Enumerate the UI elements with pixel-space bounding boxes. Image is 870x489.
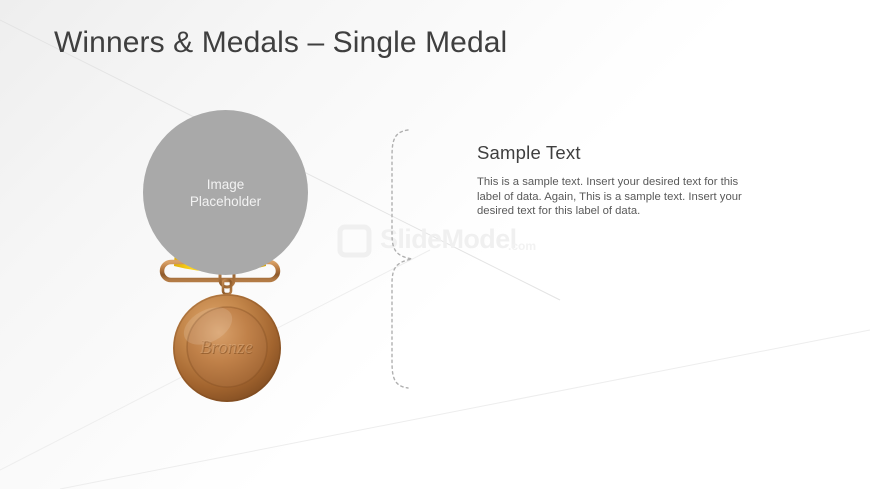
image-placeholder-line1: Image	[207, 176, 245, 193]
dashed-brace-connector	[382, 126, 452, 396]
sample-text-heading: Sample Text	[477, 142, 762, 164]
page-title: Winners & Medals – Single Medal	[54, 26, 507, 60]
medal-graphic: Bronze Bronze Image Placeholder	[140, 110, 320, 410]
image-placeholder-line2: Placeholder	[190, 193, 261, 210]
sample-text-body: This is a sample text. Insert your desir…	[477, 175, 762, 219]
svg-text:Bronze: Bronze	[200, 337, 253, 358]
text-block: Sample Text This is a sample text. Inser…	[477, 142, 762, 219]
slide-canvas: Winners & Medals – Single Medal	[0, 0, 870, 489]
image-placeholder[interactable]: Image Placeholder	[143, 110, 308, 275]
